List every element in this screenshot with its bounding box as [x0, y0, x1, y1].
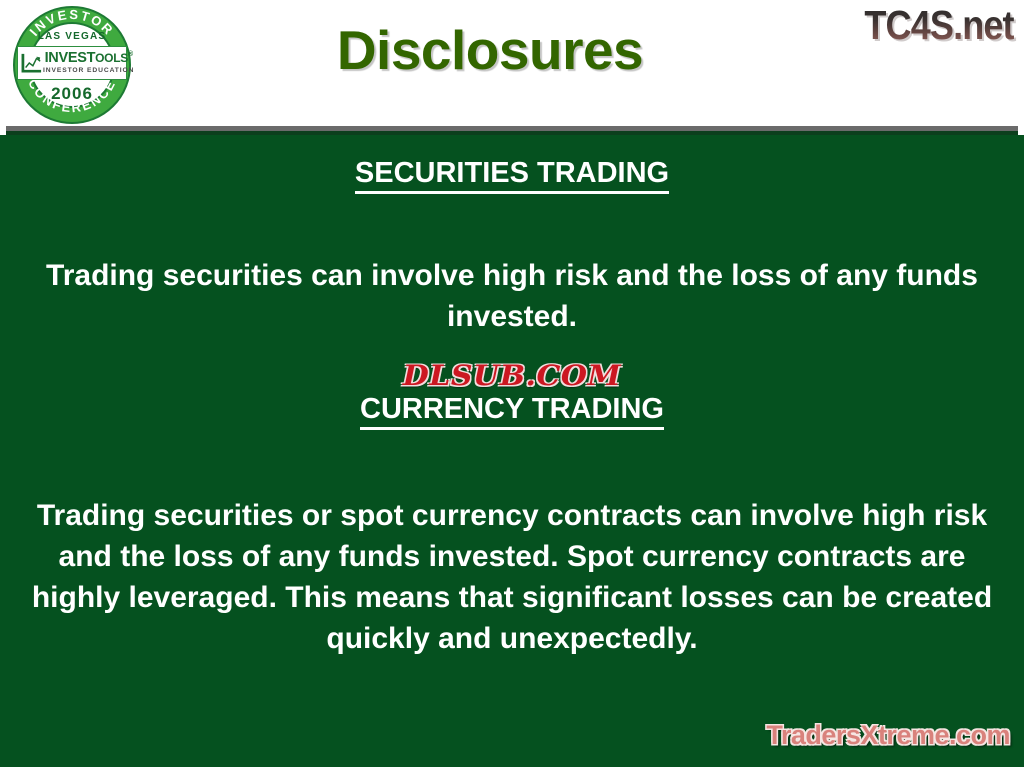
section-heading-currency-trading-text: CURRENCY TRADING: [360, 393, 664, 430]
badge-year-label: 2006: [13, 84, 131, 104]
section-body-currency-trading: Trading securities or spot currency cont…: [30, 495, 994, 659]
dlsub-watermark: DLSUB.COM: [0, 360, 1024, 392]
badge-brand-text-group: INVESTOOLS® INVESTOR EDUCATION: [43, 51, 134, 74]
page-title: Disclosures: [150, 18, 830, 82]
stock-chart-icon: [21, 53, 43, 73]
slide: INVESTOR CONFERENCE LAS VEGAS INVESTOOLS…: [0, 0, 1024, 767]
section-heading-currency-trading: CURRENCY TRADING: [0, 393, 1024, 426]
badge-brand-trademark-icon: ®: [128, 52, 133, 59]
section-heading-securities-trading: SECURITIES TRADING: [0, 157, 1024, 190]
badge-brand-t: T: [87, 50, 96, 66]
badge-brand-name: INVESTOOLS®: [43, 51, 134, 66]
section-heading-securities-trading-text: SECURITIES TRADING: [355, 157, 669, 194]
badge-city-label: LAS VEGAS: [13, 31, 131, 42]
tradersxtreme-footer-logo: TradersXtreme.com: [766, 720, 1010, 751]
badge-brand-main: INVES: [45, 50, 87, 66]
tc4s-brand-logo: TC4S.net: [865, 2, 1014, 49]
badge-brand-subtitle: INVESTOR EDUCATION: [43, 68, 134, 75]
badge-brand-tail: OOLS: [95, 51, 128, 65]
badge-brand-box: INVESTOOLS® INVESTOR EDUCATION: [17, 46, 127, 80]
slide-header: INVESTOR CONFERENCE LAS VEGAS INVESTOOLS…: [0, 0, 1024, 128]
investools-conference-badge-logo: INVESTOR CONFERENCE LAS VEGAS INVESTOOLS…: [13, 6, 133, 124]
slide-body: SECURITIES TRADING Trading securities ca…: [0, 135, 1024, 767]
section-body-securities-trading: Trading securities can involve high risk…: [40, 255, 984, 337]
